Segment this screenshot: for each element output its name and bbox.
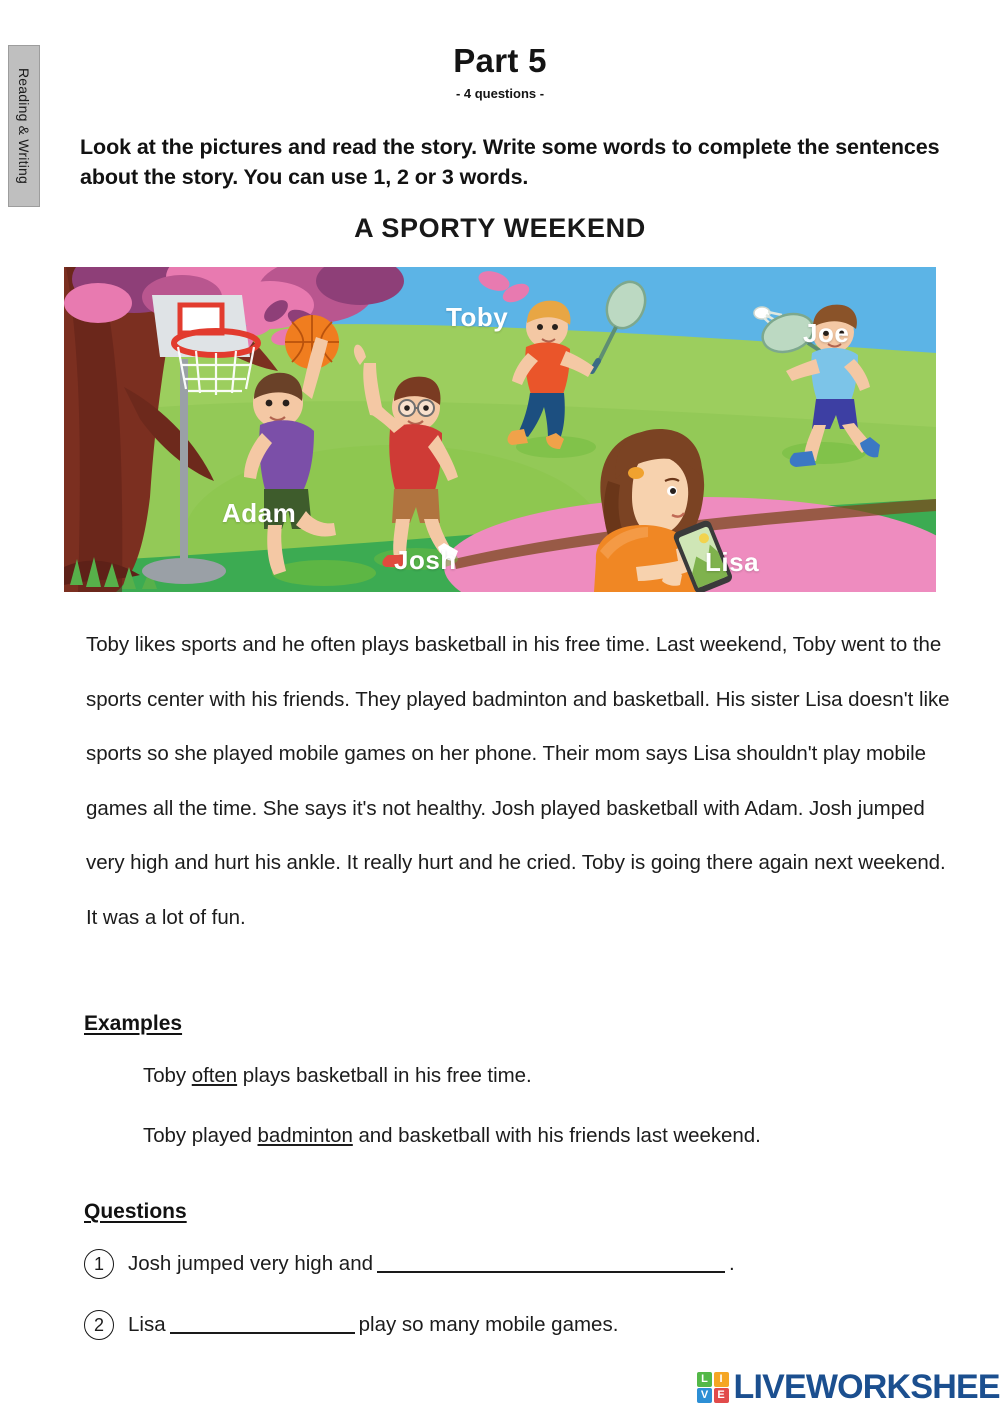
examples-heading: Examples <box>84 1012 182 1036</box>
example-answer: often <box>192 1064 237 1087</box>
page-title: Part 5 <box>0 42 1000 80</box>
logo-tile-i: I <box>714 1372 729 1387</box>
story-title: A SPORTY WEEKEND <box>0 213 1000 244</box>
logo-tile-v: V <box>697 1388 712 1403</box>
question-text-after: . <box>729 1252 735 1276</box>
example-text-before: Toby <box>143 1064 192 1087</box>
answer-input-1[interactable] <box>377 1256 725 1273</box>
logo-tile-l: L <box>697 1372 712 1387</box>
question-number: 2 <box>84 1310 114 1340</box>
example-answer: badminton <box>258 1124 353 1147</box>
question-text-after: play so many mobile games. <box>359 1313 619 1337</box>
question-number: 1 <box>84 1249 114 1279</box>
example-item: Toby often plays basketball in his free … <box>143 1064 532 1088</box>
questions-heading: Questions <box>84 1200 187 1224</box>
liveworksheets-logo[interactable]: L I V E LIVEWORKSHEETS <box>697 1368 1000 1407</box>
story-illustration <box>64 267 936 592</box>
question-text-before: Lisa <box>128 1313 166 1337</box>
example-item: Toby played badminton and basketball wit… <box>143 1124 761 1148</box>
logo-tile-e: E <box>714 1388 729 1403</box>
answer-input-2[interactable] <box>170 1317 355 1334</box>
instructions-text: Look at the pictures and read the story.… <box>80 132 985 192</box>
question-count-label: - 4 questions - <box>0 86 1000 101</box>
story-text: Toby likes sports and he often plays bas… <box>86 618 954 945</box>
illustration-svg <box>64 267 936 592</box>
example-text-after: plays basketball in his free time. <box>237 1064 532 1087</box>
logo-tiles: L I V E <box>697 1372 729 1404</box>
question-row: 1 Josh jumped very high and . <box>84 1249 735 1279</box>
example-text-before: Toby played <box>143 1124 258 1147</box>
question-text-before: Josh jumped very high and <box>128 1252 373 1276</box>
worksheet-page: Reading & Writing Part 5 - 4 questions -… <box>0 0 1000 1413</box>
example-text-after: and basketball with his friends last wee… <box>353 1124 761 1147</box>
logo-wordmark: LIVEWORKSHEETS <box>734 1368 1000 1407</box>
question-row: 2 Lisa play so many mobile games. <box>84 1310 618 1340</box>
